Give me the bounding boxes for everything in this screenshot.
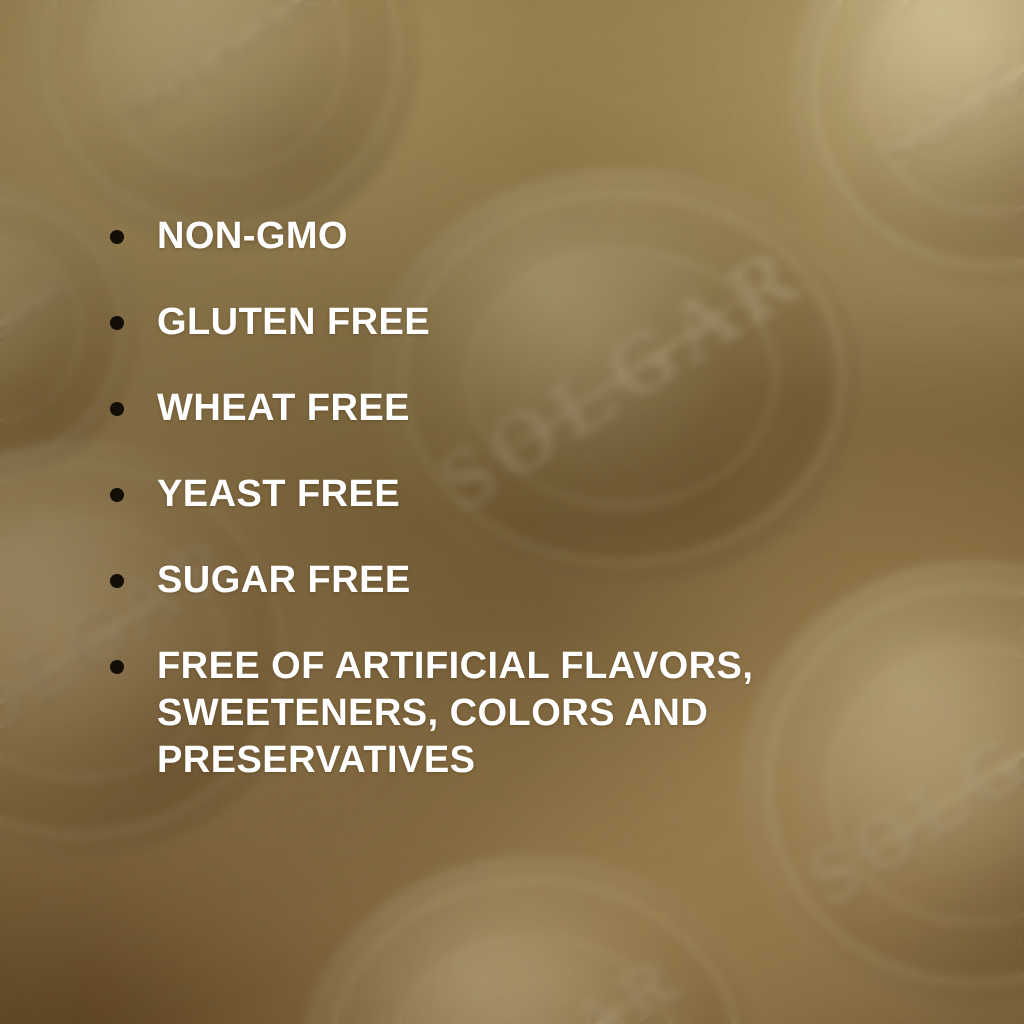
list-item: YEAST FREE (110, 471, 1024, 518)
bullet-icon (110, 488, 124, 502)
list-item: GLUTEN FREE (110, 299, 1024, 346)
benefit-label: WHEAT FREE (157, 385, 410, 432)
lid-knurl (291, 847, 780, 1024)
bullet-icon (110, 660, 124, 674)
benefit-label: GLUTEN FREE (157, 299, 430, 346)
list-item: NON-GMO (110, 213, 1024, 260)
bullet-icon (110, 402, 124, 416)
list-item: FREE OF ARTIFICIAL FLAVORS, SWEETENERS, … (110, 643, 1024, 784)
benefit-label: NON-GMO (157, 213, 348, 260)
benefit-label: YEAST FREE (157, 471, 400, 518)
lid-slash (407, 981, 663, 1024)
benefit-label: FREE OF ARTIFICIAL FLAVORS, SWEETENERS, … (157, 643, 857, 784)
bullet-icon (110, 316, 124, 330)
list-item: SUGAR FREE (110, 557, 1024, 604)
bullet-icon (110, 574, 124, 588)
list-item: WHEAT FREE (110, 385, 1024, 432)
lid-bottom-center: SOLGAR (300, 855, 770, 1024)
promo-graphic: SOLGAR SOLGAR SOLGAR SOLGAR (0, 0, 1024, 1024)
benefit-label: SUGAR FREE (157, 557, 411, 604)
benefits-list: NON-GMO GLUTEN FREE WHEAT FREE YEAST FRE… (0, 0, 1024, 823)
bullet-icon (110, 230, 124, 244)
